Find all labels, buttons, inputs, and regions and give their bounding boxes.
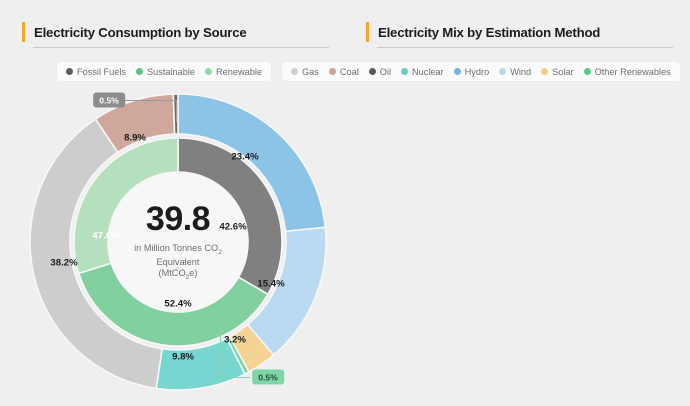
legend-item[interactable]: Gas — [291, 67, 319, 77]
caption-line-3: (MtCO — [159, 268, 186, 278]
caption-line-2: Equivalent — [157, 257, 200, 267]
legend-inner-ring: Fossil Fuels Sustainable Renewable — [57, 62, 271, 81]
legend-item[interactable]: Other Renewables — [584, 67, 671, 77]
legend-sources: Gas Coal Oil Nuclear Hydro Wind — [282, 62, 680, 81]
legend-dot-icon — [499, 68, 506, 75]
slice-label-hydro: 15.4% — [257, 279, 284, 290]
legend-item-label: Nuclear — [412, 67, 444, 77]
leader-line-other-renewables — [220, 330, 221, 377]
slice-label-nuclear: 9.8% — [172, 352, 194, 363]
legend-dot-icon — [136, 68, 143, 75]
legend-dot-icon — [369, 68, 376, 75]
legend-dot-icon — [291, 68, 298, 75]
legend-item-label: Wind — [510, 67, 531, 77]
legend-item-label: Other Renewables — [595, 67, 671, 77]
legend-item[interactable]: Oil — [369, 67, 391, 77]
callout-chip-other-renewables: 0.5% — [252, 370, 284, 385]
legend-item-label: Oil — [380, 67, 391, 77]
legend-dot-icon — [205, 68, 212, 75]
legend-item[interactable]: Fossil Fuels — [66, 67, 126, 77]
accent-bar-icon — [22, 22, 25, 42]
legend-item-label: Renewable — [216, 67, 262, 77]
slice-label-wind: 23.4% — [231, 152, 258, 163]
caption-line-3-end: e) — [189, 268, 197, 278]
legend-item-label: Coal — [340, 67, 359, 77]
title-divider-right — [377, 47, 673, 48]
legend-item-label: Fossil Fuels — [77, 67, 126, 77]
legend-dot-icon — [329, 68, 336, 75]
legend-dot-icon — [454, 68, 461, 75]
legend-item[interactable]: Hydro — [454, 67, 490, 77]
callout-chip-oil: 0.5% — [93, 93, 125, 108]
slice-label-gas: 38.2% — [50, 258, 77, 269]
donut-center-caption: in Million Tonnes CO2 Equivalent (MtCO2e… — [134, 243, 222, 283]
legend-item[interactable]: Nuclear — [401, 67, 444, 77]
panel-electricity-mix: Electricity Mix by Estimation Method Gas… — [352, 0, 690, 406]
slice-label-sustainable: 52.4% — [164, 299, 191, 310]
legend-dot-icon — [584, 68, 591, 75]
slice-label-coal: 8.9% — [124, 133, 146, 144]
slice-label-fossil-fuels: 47.6% — [92, 231, 119, 242]
legend-item-label: Hydro — [465, 67, 490, 77]
legend-item[interactable]: Solar — [541, 67, 573, 77]
leader-line-oil — [124, 100, 176, 101]
donut-center-value: 39.8 — [146, 202, 210, 236]
legend-item[interactable]: Sustainable — [136, 67, 195, 77]
legend-item[interactable]: Renewable — [205, 67, 262, 77]
legend-dot-icon — [401, 68, 408, 75]
legend-dot-icon — [541, 68, 548, 75]
page-title-left: Electricity Consumption by Source — [34, 25, 247, 40]
dashboard-page: Electricity Consumption by Source Fossil… — [0, 0, 690, 406]
legend-item-label: Sustainable — [147, 67, 195, 77]
slice-label-solar: 3.2% — [224, 335, 246, 346]
legend-item-label: Solar — [552, 67, 573, 77]
accent-bar-icon — [366, 22, 369, 42]
leader-line-oil — [176, 100, 177, 122]
legend-item[interactable]: Wind — [499, 67, 531, 77]
right-panel-header: Electricity Mix by Estimation Method — [366, 22, 600, 42]
donut-center: 39.8 in Million Tonnes CO2 Equivalent (M… — [108, 172, 248, 312]
page-title-right: Electricity Mix by Estimation Method — [378, 25, 600, 40]
donut-chart: 39.8 in Million Tonnes CO2 Equivalent (M… — [28, 92, 328, 392]
leader-line-other-renewables — [220, 377, 250, 378]
slice-label-renewable: 42.6% — [219, 222, 246, 233]
caption-line-1: in Million Tonnes CO — [134, 243, 218, 253]
legend-dot-icon — [66, 68, 73, 75]
legend-item[interactable]: Coal — [329, 67, 359, 77]
left-panel-header: Electricity Consumption by Source — [22, 22, 247, 42]
title-divider-left — [33, 47, 329, 48]
legend-item-label: Gas — [302, 67, 319, 77]
panel-electricity-consumption: Electricity Consumption by Source Fossil… — [0, 0, 352, 406]
